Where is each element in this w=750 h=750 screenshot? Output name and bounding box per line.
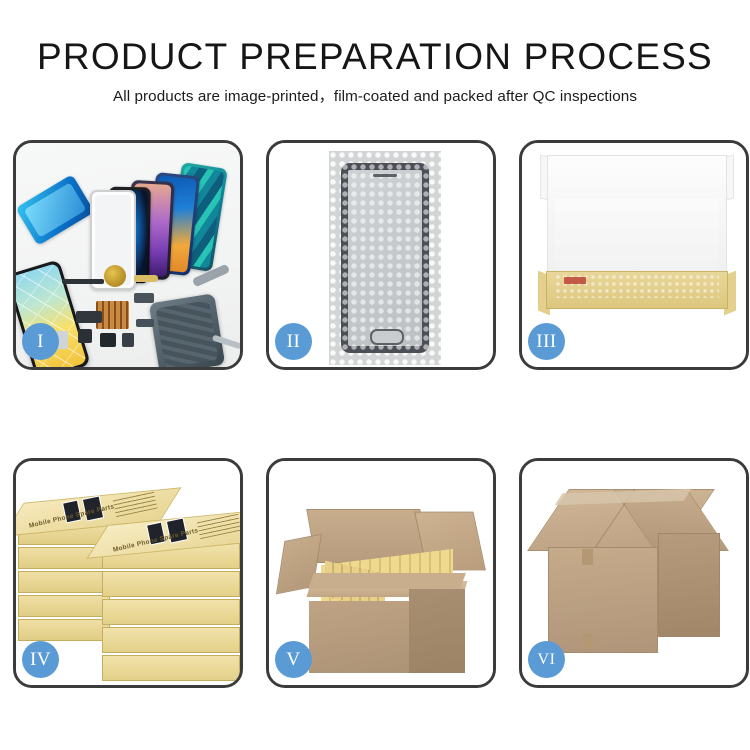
step-panel-5: V: [266, 458, 496, 688]
tape-tab-lower: [582, 633, 593, 649]
speaker-part: [76, 311, 102, 323]
screen-label-sticker: [564, 277, 586, 284]
step-panel-2: II: [266, 140, 496, 370]
step-badge-4: IV: [22, 641, 59, 678]
process-steps-grid: I II: [13, 140, 737, 688]
step-panel-1: I: [13, 140, 243, 370]
box-stack-left-5: [18, 619, 110, 641]
home-button: [370, 329, 404, 345]
carton-side-face: [409, 589, 465, 673]
step-panel-6: VI: [519, 458, 749, 688]
box-stack-right-5: [102, 655, 240, 681]
tape-tab-upper: [582, 549, 593, 565]
step-badge-6: VI: [528, 641, 565, 678]
step-panel-3: III: [519, 140, 749, 370]
carton-front-face: [309, 601, 409, 673]
step-badge-3: III: [528, 323, 565, 360]
step-badge-5: V: [275, 641, 312, 678]
earpiece-slot: [373, 174, 397, 177]
sensor-part: [122, 333, 134, 347]
battery-connector-part: [100, 333, 116, 347]
sealed-carton-front-face: [548, 547, 658, 653]
vibrator-motor-part: [104, 265, 126, 287]
small-chip-part: [78, 329, 92, 343]
step-badge-1: I: [22, 323, 59, 360]
box-stack-right-3: [102, 599, 240, 625]
box-stack-left-3: [18, 571, 110, 593]
sealed-carton-side-face: [658, 533, 720, 637]
page-subtitle: All products are image-printed，film-coat…: [0, 84, 750, 106]
foam-insert: [555, 199, 719, 271]
carton-flap-front: [308, 573, 466, 589]
gold-connector-part: [134, 275, 158, 282]
box-stack-right-4: [102, 627, 240, 653]
step-panel-4: Mobile Phone Spare Parts Mobile Phone Sp…: [13, 458, 243, 688]
wrapped-screen-frame: [341, 163, 429, 353]
camera-module-part: [134, 293, 154, 303]
box-stack-left-4: [18, 595, 110, 617]
product-preparation-process-page: PRODUCT PREPARATION PROCESS All products…: [0, 0, 750, 750]
page-title: PRODUCT PREPARATION PROCESS: [0, 38, 750, 75]
antenna-part: [136, 319, 154, 327]
flex-cable-part: [62, 279, 104, 284]
box-stack-right-2: [102, 571, 240, 597]
step-badge-2: II: [275, 323, 312, 360]
phone-back-housing: [149, 293, 225, 367]
